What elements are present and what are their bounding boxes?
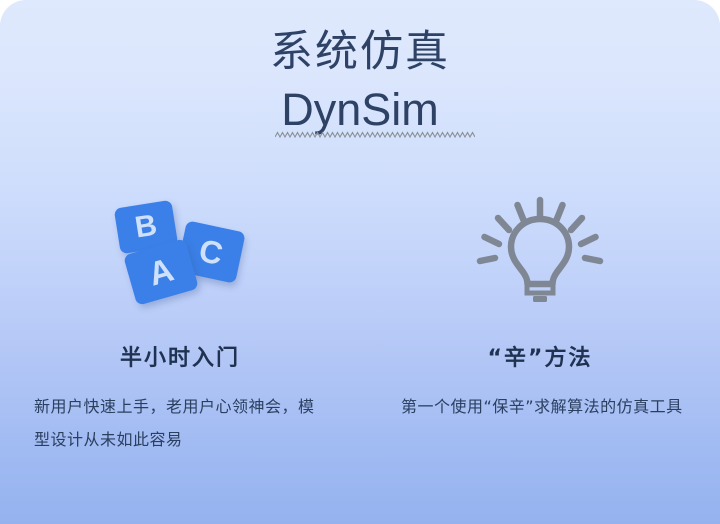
features-row: B C A 半小时入门 新用户快速上手，老用户心领神会，模型设计从未如此容易 xyxy=(0,186,720,456)
abc-blocks-icon: B C A xyxy=(105,192,255,312)
feature-heading: 半小时入门 xyxy=(120,340,240,372)
title-block: 系统仿真 DynSim xyxy=(0,26,720,137)
feature-icon-area: B C A xyxy=(0,186,360,318)
feature-half-hour-intro: B C A 半小时入门 新用户快速上手，老用户心领神会，模型设计从未如此容易 xyxy=(0,186,360,456)
page-title-chinese: 系统仿真 xyxy=(0,26,720,78)
feature-body: 新用户快速上手，老用户心领神会，模型设计从未如此容易 xyxy=(30,390,330,456)
feature-body: 第一个使用“保辛”求解算法的仿真工具 xyxy=(393,390,687,423)
feature-icon-area xyxy=(360,186,720,318)
feature-heading: “辛”方法 xyxy=(488,340,593,372)
feature-xin-method: “辛”方法 第一个使用“保辛”求解算法的仿真工具 xyxy=(360,186,720,456)
lightbulb-icon xyxy=(465,192,615,312)
page-title-english: DynSim xyxy=(281,83,439,137)
page-title-english-wrapper: DynSim xyxy=(281,83,439,137)
promo-card: 系统仿真 DynSim B C A 半小时入门 新用户快速上手，老用户心领神会，… xyxy=(0,0,720,524)
